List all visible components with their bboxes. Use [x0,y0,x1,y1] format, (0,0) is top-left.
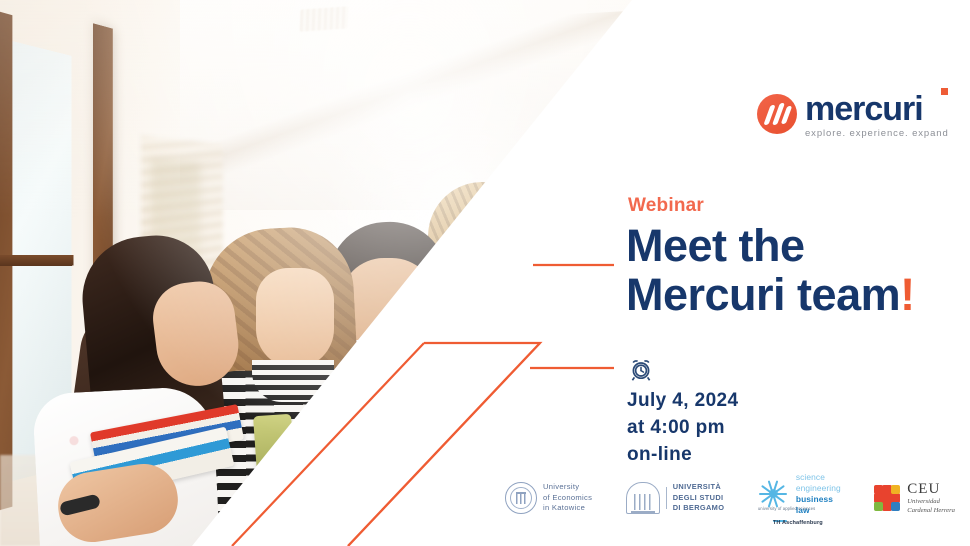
bergamo-crest-icon [626,482,660,514]
aschaffenburg-title: TH Aschaffenburg [773,520,787,522]
event-mode: on-line [627,444,692,465]
partner-logo-aschaffenburg[interactable]: TH Aschaffenburg university of applied s… [758,472,841,525]
logo-wordmark: mercuri [805,92,949,126]
logo-tagline: explore. experience. expand [805,129,949,139]
bergamo-line-3: DI BERGAMO [673,503,725,512]
page-title: Meet the Mercuri team! [626,222,956,319]
mercuri-mark-icon [757,94,797,134]
headline-exclamation: ! [900,269,915,320]
alarm-clock-icon [628,356,654,382]
bergamo-divider [666,487,667,509]
ceu-cross-icon [874,485,900,511]
logo-text-block: mercuri explore. experience. expand [805,92,949,139]
event-details: July 4, 2024 at 4:00 pm on-line [627,388,739,469]
katowice-line-3: in Katowice [543,503,585,512]
partner-logos: University of Economics in Katowice UNIV… [505,470,955,526]
field-science: science [796,472,841,483]
katowice-line-2: of Economics [543,493,592,502]
field-business: business [796,494,841,505]
katowice-line-1: University [543,482,579,491]
aschaffenburg-sunburst-icon: TH Aschaffenburg university of applied s… [758,479,792,509]
bergamo-label: UNIVERSITÀ DEGLI STUDI DI BERGAMO [673,482,725,514]
ceu-line-2: Cardenal Herrera [907,507,955,514]
ceu-fullname: Universidad Cardenal Herrera [907,498,955,515]
partner-logo-ceu[interactable]: CEU Universidad Cardenal Herrera [874,481,955,515]
aschaffenburg-subtitle: university of applied sciences [758,506,815,511]
field-engineering: engineering [796,483,841,494]
partner-logo-katowice[interactable]: University of Economics in Katowice [505,482,592,514]
mercuri-logo[interactable]: mercuri explore. experience. expand [757,92,949,139]
headline-line-2: Mercuri team [626,269,900,320]
aschaffenburg-name: TH Aschaffenburg university of applied s… [758,506,815,511]
ceu-label: CEU Universidad Cardenal Herrera [907,481,955,515]
eyebrow-label: Webinar [628,195,704,217]
logo-accent-dot-icon [941,88,948,95]
katowice-label: University of Economics in Katowice [543,482,592,513]
event-time: at 4:00 pm [627,417,725,438]
ceu-line-1: Universidad [907,498,940,505]
event-date: July 4, 2024 [627,390,739,411]
webinar-banner: mercuri explore. experience. expand Webi… [0,0,970,546]
bergamo-line-1: UNIVERSITÀ [673,482,721,491]
headline-line-1: Meet the [626,220,805,271]
katowice-seal-icon [505,482,537,514]
ceu-abbr: CEU [907,481,955,498]
partner-logo-bergamo[interactable]: UNIVERSITÀ DEGLI STUDI DI BERGAMO [626,482,725,514]
bergamo-line-2: DEGLI STUDI [673,493,724,502]
